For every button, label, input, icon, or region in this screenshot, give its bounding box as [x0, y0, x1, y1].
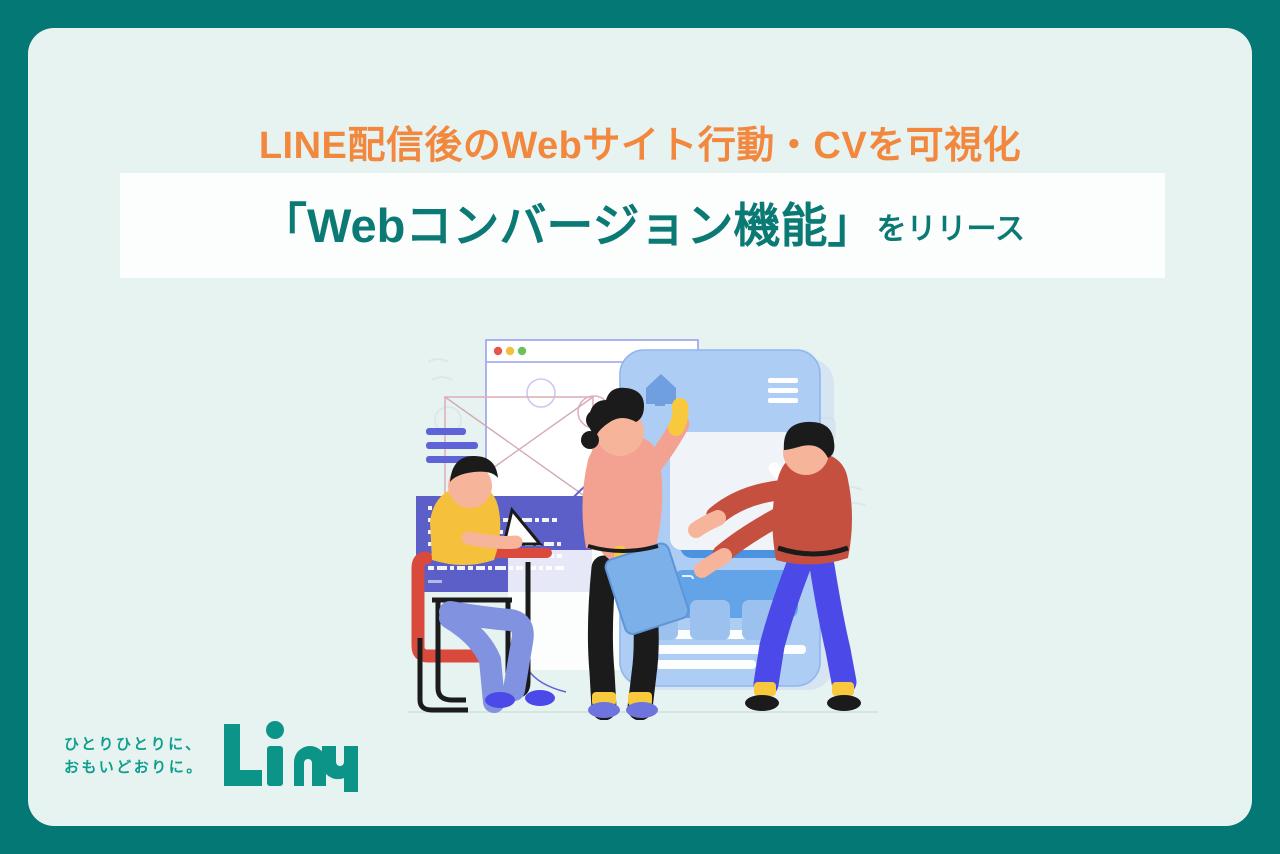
hamburger-icon[interactable]: [768, 378, 798, 403]
page-frame: LINE配信後のWebサイト行動・CVを可視化 「Webコンバージョン機能」 を…: [0, 0, 1280, 854]
brand-tagline-line2: おもいどおりに。: [64, 756, 204, 779]
brand-logo: ひとりひとりに、 おもいどおりに。: [64, 716, 378, 796]
browser-minimize-dot: [506, 347, 514, 355]
brand-tagline: ひとりひとりに、 おもいどおりに。: [64, 733, 204, 780]
page-title: 「Webコンバージョン機能」: [260, 202, 874, 249]
page-title-suffix: をリリース: [874, 204, 1025, 248]
hero-illustration: [408, 300, 878, 720]
content-card: LINE配信後のWebサイト行動・CVを可視化 「Webコンバージョン機能」 を…: [28, 28, 1252, 826]
page-subtitle: LINE配信後のWebサイト行動・CVを可視化: [28, 126, 1252, 168]
brand-tagline-line1: ひとりひとりに、: [64, 733, 204, 756]
brand-wordmark: [218, 716, 378, 796]
browser-close-dot: [494, 347, 502, 355]
title-band: 「Webコンバージョン機能」 をリリース: [120, 173, 1165, 278]
browser-maximize-dot: [518, 347, 526, 355]
